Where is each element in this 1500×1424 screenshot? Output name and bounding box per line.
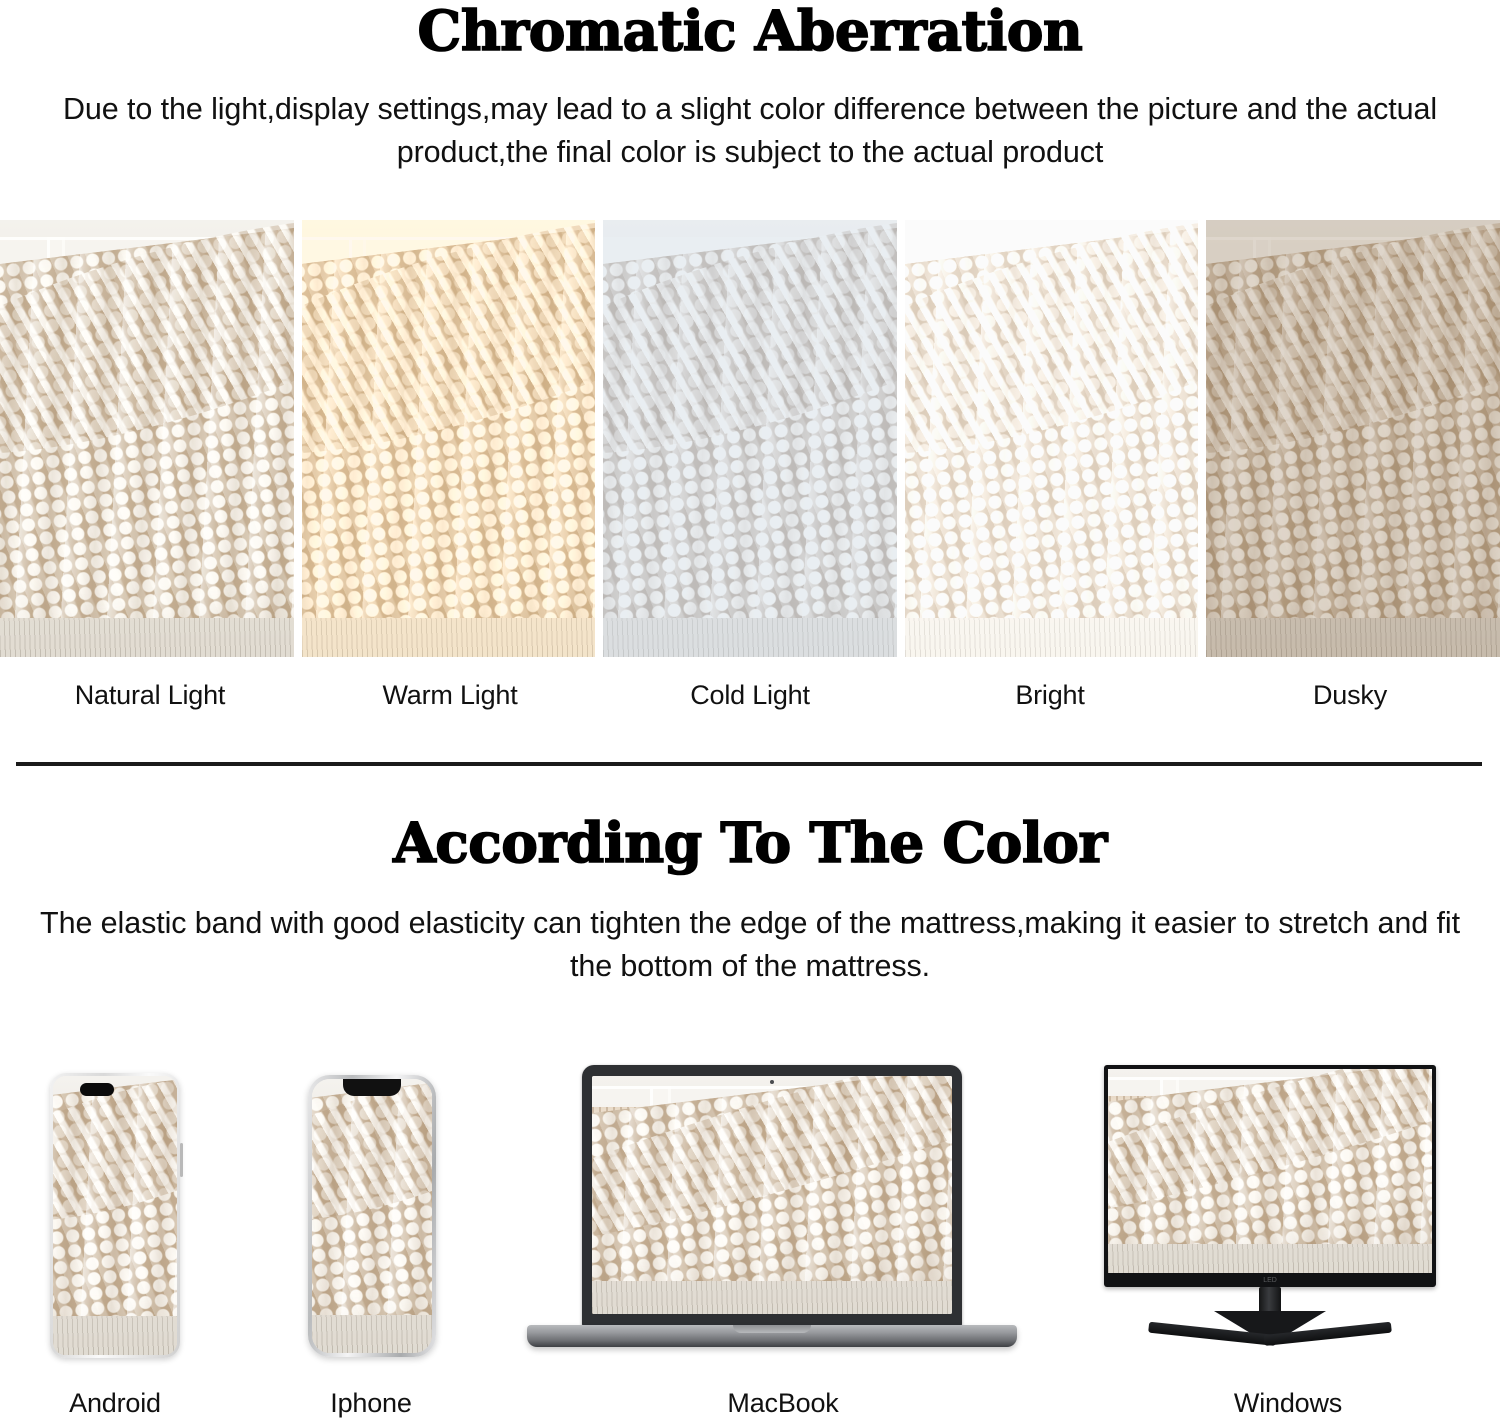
faux-fur-blanket <box>53 1076 177 1355</box>
subtitle-according-to-the-color: The elastic band with good elasticity ca… <box>0 902 1500 989</box>
iphone-screen <box>312 1079 432 1353</box>
monitor-screen <box>1108 1069 1432 1273</box>
blanket-fold <box>905 220 1199 487</box>
product-infographic: Chromatic Aberration Due to the light,di… <box>0 0 1500 1424</box>
floor-rug <box>0 618 294 657</box>
floor-rug <box>1206 618 1500 657</box>
monitor-bezel: LED <box>1104 1065 1436 1287</box>
iphone-notch-icon <box>343 1079 401 1096</box>
screen-content-windows <box>1108 1069 1432 1273</box>
floor-rug <box>53 1316 177 1355</box>
monitor-brand-mark: LED <box>1257 1277 1283 1285</box>
caption-bright: Bright <box>900 665 1200 725</box>
lighting-panel-dusky <box>1206 220 1500 657</box>
screen-content-macbook <box>592 1076 952 1314</box>
lighting-variant-strip <box>0 220 1500 657</box>
caption-iphone: Iphone <box>330 1388 411 1419</box>
android-camera-cutout-icon <box>80 1083 114 1096</box>
macbook-camera-icon <box>770 1080 774 1084</box>
faux-fur-blanket <box>1108 1069 1432 1273</box>
caption-warm-light: Warm Light <box>300 665 600 725</box>
product-photo-warm-light <box>302 220 596 657</box>
section-divider <box>16 762 1482 766</box>
floor-rug <box>592 1281 952 1314</box>
lighting-panel-warm-light <box>302 220 596 657</box>
floor-rug <box>905 618 1199 657</box>
lighting-panel-bright <box>905 220 1199 657</box>
faux-fur-blanket <box>312 1079 432 1353</box>
blanket-fold <box>53 1076 177 1240</box>
product-photo-bright <box>905 220 1199 657</box>
device-mockup-row: LED <box>0 1055 1500 1355</box>
device-mockup-android <box>50 1073 180 1358</box>
lighting-panel-cold-light <box>603 220 897 657</box>
floor-rug <box>603 618 897 657</box>
caption-macbook: MacBook <box>727 1388 838 1419</box>
faux-fur-blanket <box>905 224 1199 657</box>
floor-rug <box>302 618 596 657</box>
macbook-base <box>527 1325 1017 1347</box>
caption-windows: Windows <box>1234 1388 1342 1419</box>
android-side-button <box>180 1143 183 1177</box>
blanket-fold <box>312 1079 432 1240</box>
blanket-fold <box>603 220 897 487</box>
macbook-lid <box>582 1065 962 1327</box>
product-photo-natural-light <box>0 220 294 657</box>
faux-fur-blanket <box>592 1076 952 1314</box>
product-photo-dusky <box>1206 220 1500 657</box>
page-title-according-to-the-color: According To The Color <box>0 810 1500 872</box>
floor-rug <box>312 1315 432 1353</box>
blanket-fold <box>0 220 294 487</box>
product-photo-cold-light <box>603 220 897 657</box>
caption-dusky: Dusky <box>1200 665 1500 725</box>
floor-rug <box>1108 1244 1432 1273</box>
android-screen <box>53 1076 177 1355</box>
section-according-to-the-color: According To The Color The elastic band … <box>0 810 1500 988</box>
page-title-chromatic-aberration: Chromatic Aberration <box>0 0 1500 60</box>
blanket-fold <box>302 220 596 487</box>
caption-android: Android <box>69 1388 161 1419</box>
device-mockup-windows-monitor: LED <box>1090 1061 1450 1361</box>
device-caption-row: Android Iphone MacBook Windows <box>0 1388 1500 1424</box>
device-mockup-macbook <box>527 1059 1017 1359</box>
blanket-fold <box>1206 220 1500 487</box>
device-mockup-iphone <box>308 1075 436 1357</box>
caption-natural-light: Natural Light <box>0 665 300 725</box>
caption-cold-light: Cold Light <box>600 665 900 725</box>
lighting-caption-row: Natural Light Warm Light Cold Light Brig… <box>0 665 1500 725</box>
faux-fur-blanket <box>0 224 294 657</box>
faux-fur-blanket <box>1206 224 1500 657</box>
faux-fur-blanket <box>603 224 897 657</box>
macbook-base-notch <box>733 1325 811 1333</box>
subtitle-chromatic-aberration: Due to the light,display settings,may le… <box>0 88 1500 175</box>
faux-fur-blanket <box>302 224 596 657</box>
lighting-panel-natural-light <box>0 220 294 657</box>
screen-content-iphone <box>312 1079 432 1353</box>
screen-content-android <box>53 1076 177 1355</box>
macbook-screen <box>592 1076 952 1314</box>
